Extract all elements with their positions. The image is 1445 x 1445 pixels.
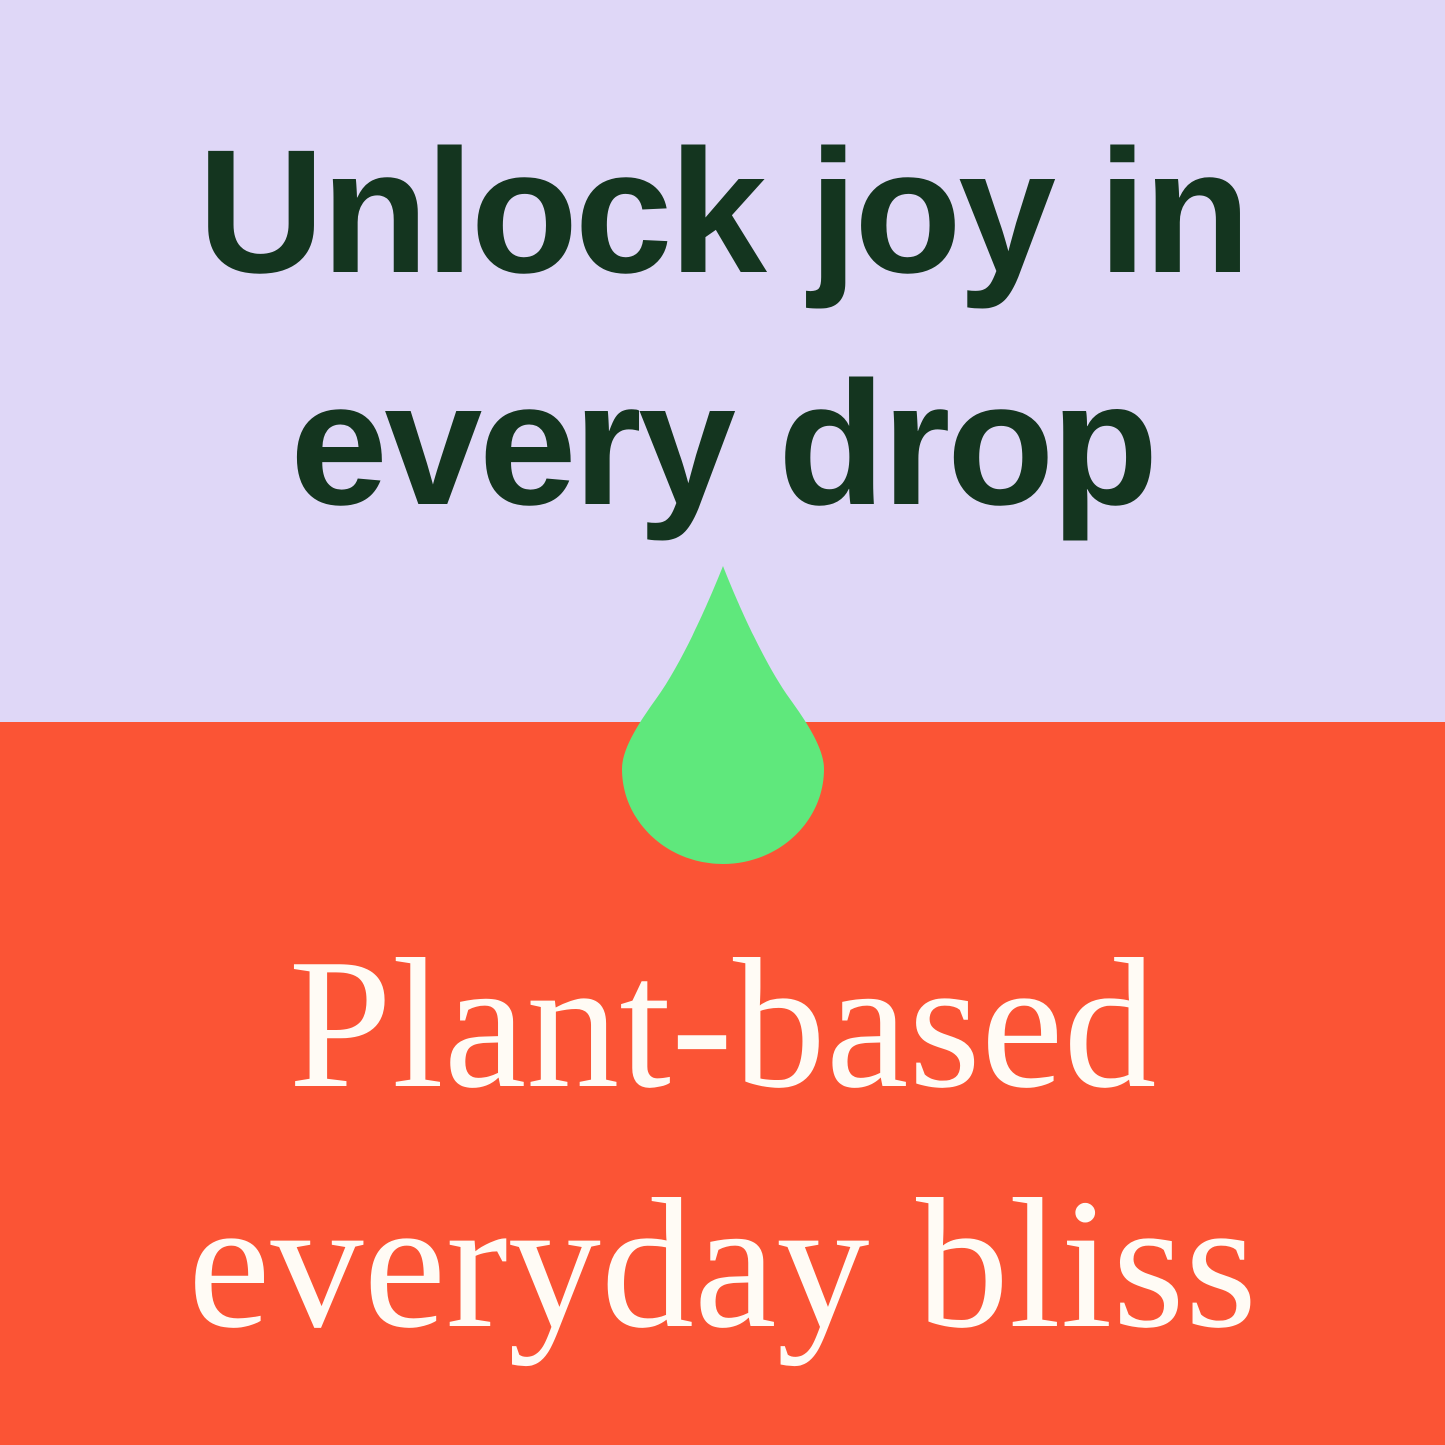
subline-line-1: Plant-based <box>0 905 1445 1145</box>
subline-line-2: everyday bliss <box>0 1145 1445 1385</box>
headline-line-2: every drop <box>0 328 1445 560</box>
droplet-icon <box>622 566 824 864</box>
headline: Unlock joy in every drop <box>0 96 1445 561</box>
subline: Plant-based everyday bliss <box>0 905 1445 1385</box>
promo-poster: Unlock joy in every drop Plant-based eve… <box>0 0 1445 1445</box>
headline-line-1: Unlock joy in <box>0 96 1445 328</box>
